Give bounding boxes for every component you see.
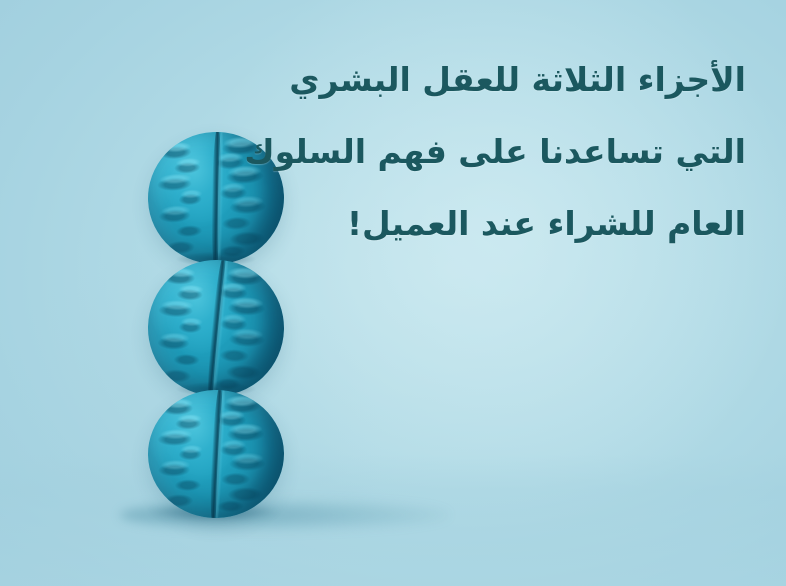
brain-bottom — [147, 389, 285, 519]
headline-line-3: العام للشراء عند العميل! — [276, 188, 746, 260]
headline-line-1: الأجزاء الثلاثة للعقل البشري — [276, 44, 746, 116]
poster-canvas: الأجزاء الثلاثة للعقل البشري التي تساعدن… — [0, 0, 786, 586]
background-floor-gradient — [0, 454, 786, 586]
headline: الأجزاء الثلاثة للعقل البشري التي تساعدن… — [276, 44, 746, 260]
brain-stack — [148, 132, 284, 514]
brain-middle — [146, 258, 286, 398]
headline-line-2: التي تساعدنا على فهم السلوك — [276, 116, 746, 188]
